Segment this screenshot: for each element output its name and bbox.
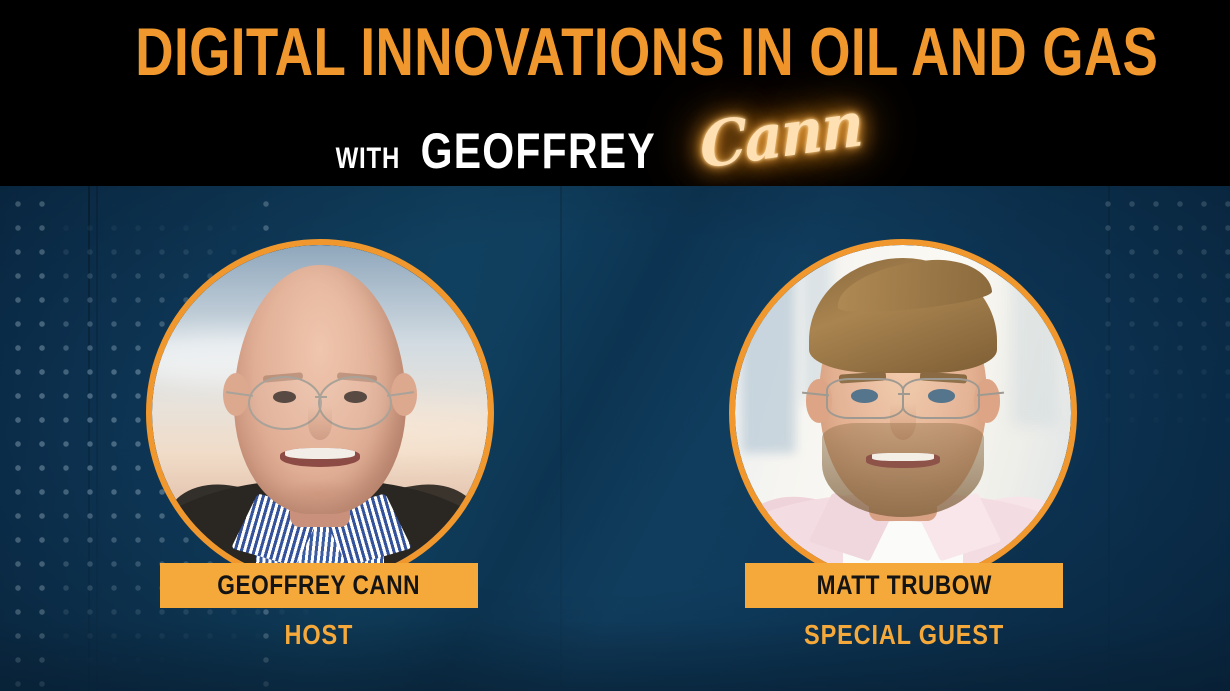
role-text: SPECIAL GUEST: [804, 619, 1004, 651]
byline-host-name: GEOFFREY: [420, 122, 655, 180]
eyeglasses-bridge: [315, 396, 327, 398]
nameplate-matt: MATT TRUBOW: [745, 563, 1063, 608]
nose: [308, 406, 332, 440]
role-text: HOST: [285, 619, 354, 651]
chin: [280, 480, 361, 507]
eyeglasses-bridge: [898, 393, 910, 395]
host-byline: WITH GEOFFREY Cann: [0, 110, 1230, 180]
header-band: DIGITAL INNOVATIONS IN OIL AND GAS WITH …: [0, 0, 1230, 186]
nameplate-label: MATT TRUBOW: [816, 570, 991, 601]
mouth: [866, 453, 940, 468]
role-label-matt: SPECIAL GUEST: [745, 619, 1063, 651]
nameplate-label: GEOFFREY CANN: [218, 570, 421, 601]
avatar-matt: [729, 239, 1077, 587]
mouth: [280, 448, 361, 466]
teeth: [285, 448, 356, 458]
avatar-matt-photo: [735, 245, 1071, 581]
page-title: DIGITAL INNOVATIONS IN OIL AND GAS: [135, 16, 1094, 88]
nose: [890, 403, 917, 440]
photo-bg-window: [1011, 252, 1058, 427]
avatar-geoffrey-photo: [152, 245, 488, 581]
teeth: [872, 453, 934, 461]
photo-bg-window: [742, 258, 796, 453]
byline-with-label: WITH: [336, 142, 401, 176]
host-signature-script: Cann: [699, 87, 863, 183]
avatar-geoffrey: [146, 239, 494, 587]
nameplate-geoffrey: GEOFFREY CANN: [160, 563, 478, 608]
podcast-title-card: DIGITAL INNOVATIONS IN OIL AND GAS WITH …: [0, 0, 1230, 691]
role-label-geoffrey: HOST: [160, 619, 478, 651]
